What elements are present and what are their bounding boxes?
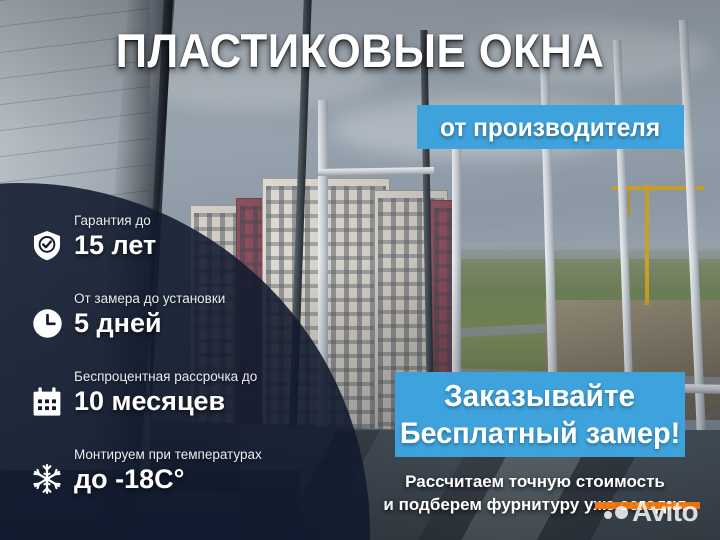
feature-label: От замера до установки [74,291,225,307]
feature-label: Монтируем при температурах [74,447,262,463]
page-title: ПЛАСТИКОВЫЕ ОКНА [25,24,695,78]
manufacturer-badge-label: от производителя [440,114,660,140]
cta-subnote-line1: Рассчитаем точную стоимость [360,470,710,493]
feature-value: до -18С° [74,463,184,496]
cta-banner[interactable]: Заказывайте Бесплатный замер! [395,372,685,457]
feature-value: 5 дней [74,307,162,340]
feature-value: 10 месяцев [74,385,225,418]
feature-list: Гарантия до 15 лет От замера до установк… [30,206,310,518]
cta-line1: Заказывайте [444,377,635,415]
feature-label: Гарантия до [74,213,151,229]
feature-label: Беспроцентная рассрочка до [74,369,257,385]
clock-icon [30,306,64,340]
feature-item-lead-time: От замера до установки 5 дней [30,284,310,362]
feature-item-warranty: Гарантия до 15 лет [30,206,310,284]
avito-dots-icon [604,506,628,519]
snowflake-icon [30,462,64,496]
feature-item-temperature: Монтируем при температурах до -18С° [30,440,310,518]
shield-check-icon [30,228,64,262]
calendar-icon [30,384,64,418]
cta-line2: Бесплатный замер! [400,415,680,453]
advertisement-banner: ПЛАСТИКОВЫЕ ОКНА от производителя Гарант… [0,0,720,540]
manufacturer-badge: от производителя [417,105,684,149]
feature-value: 15 лет [74,229,156,262]
feature-item-installment: Беспроцентная рассрочка до 10 месяцев [30,362,310,440]
avito-watermark: Avito [604,498,698,526]
avito-watermark-label: Avito [632,498,698,526]
